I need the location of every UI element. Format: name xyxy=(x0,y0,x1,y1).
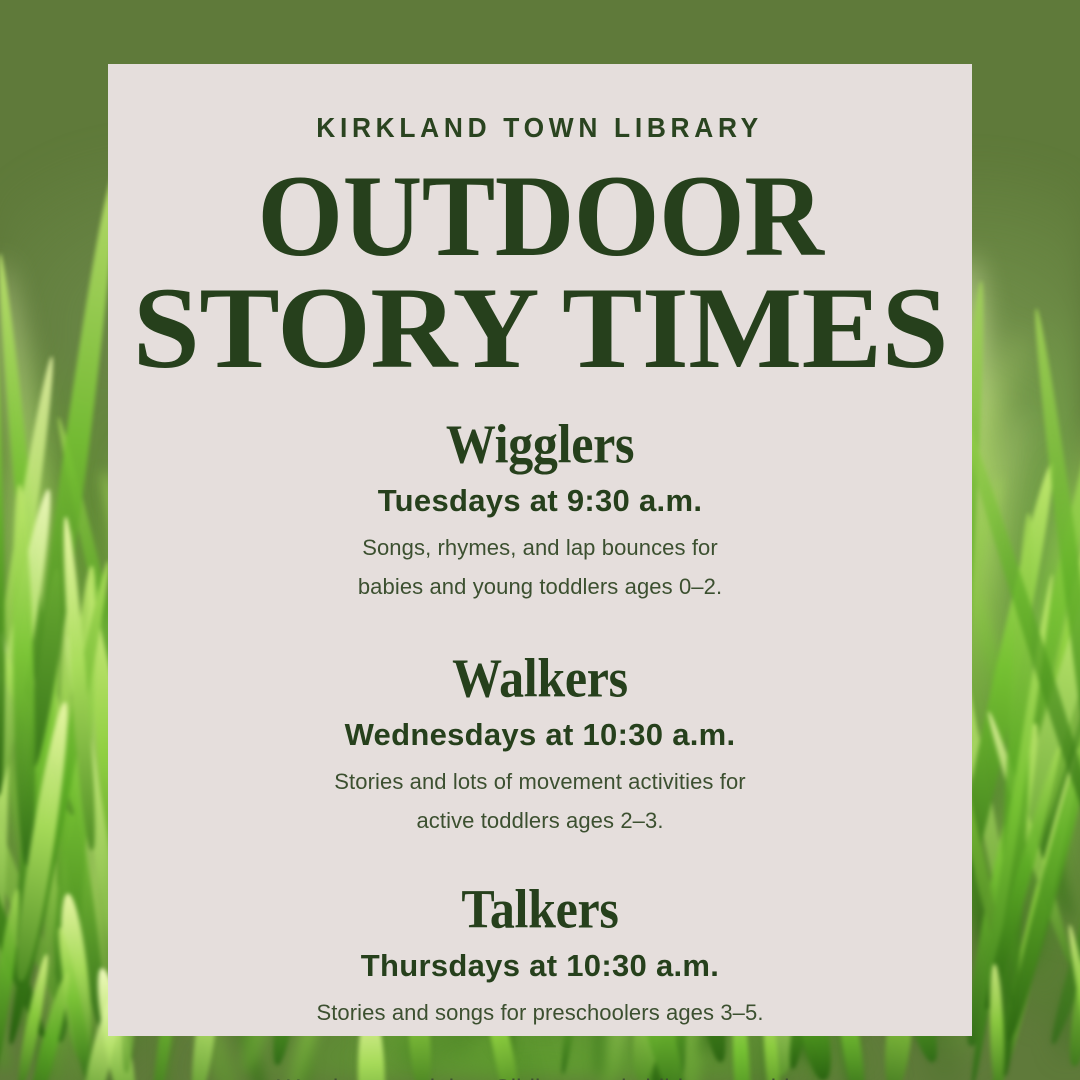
program-description-line-2: active toddlers ages 2–3. xyxy=(154,801,926,840)
program-description-line-1: Stories and lots of movement activities … xyxy=(154,762,926,801)
program-schedule: Thursdays at 10:30 a.m. xyxy=(154,950,926,981)
program-section-wigglers: Wigglers Tuesdays at 9:30 a.m. Songs, rh… xyxy=(154,419,926,606)
program-schedule: Wednesdays at 10:30 a.m. xyxy=(154,719,926,750)
page-title-line-1: OUTDOOR xyxy=(168,164,913,269)
page-title: OUTDOOR STORY TIMES xyxy=(189,144,892,375)
program-name: Talkers xyxy=(154,881,926,936)
disclaimer-line-1: Weather permitting. Siblings and childre… xyxy=(277,1070,803,1080)
program-description: Songs, rhymes, and lap bounces for babie… xyxy=(154,528,926,606)
program-name: Wigglers xyxy=(154,417,926,472)
program-description: Stories and lots of movement activities … xyxy=(154,762,926,840)
poster-canvas: KIRKLAND TOWN LIBRARY OUTDOOR STORY TIME… xyxy=(0,0,1080,1080)
program-description-line-1: Songs, rhymes, and lap bounces for xyxy=(154,528,926,567)
program-section-walkers: Walkers Wednesdays at 10:30 a.m. Stories… xyxy=(154,653,926,840)
program-schedule: Tuesdays at 9:30 a.m. xyxy=(154,485,926,516)
page-title-line-2: STORY TIMES xyxy=(132,276,947,381)
program-description-line-2: babies and young toddlers ages 0–2. xyxy=(154,567,926,606)
program-name: Walkers xyxy=(154,650,926,705)
program-description: Stories and songs for preschoolers ages … xyxy=(154,993,926,1032)
program-description-line-1: Stories and songs for preschoolers ages … xyxy=(154,993,926,1032)
poster-card: KIRKLAND TOWN LIBRARY OUTDOOR STORY TIME… xyxy=(108,64,972,1036)
program-section-talkers: Talkers Thursdays at 10:30 a.m. Stories … xyxy=(154,884,926,1032)
disclaimer-note: Weather permitting. Siblings and childre… xyxy=(277,1070,803,1080)
organization-name: KIRKLAND TOWN LIBRARY xyxy=(317,112,764,144)
